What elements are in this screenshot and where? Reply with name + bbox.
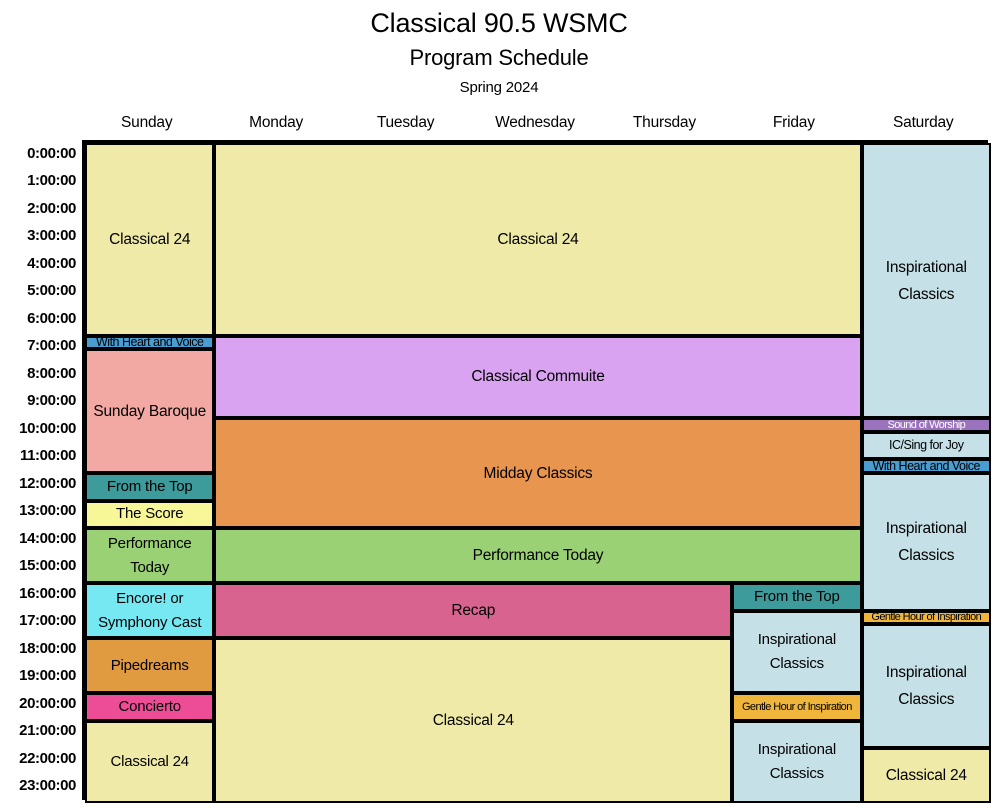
time-label: 6:00:00: [0, 311, 76, 327]
program-block[interactable]: Sound of Worship: [862, 418, 991, 432]
program-label: IC/Sing for Joy: [866, 438, 987, 453]
time-label: 2:00:00: [0, 201, 76, 217]
program-label: Inspirational Classics: [866, 254, 987, 308]
time-label: 23:00:00: [0, 778, 76, 794]
time-label: 9:00:00: [0, 393, 76, 409]
program-block[interactable]: Classical 24: [862, 748, 991, 803]
program-label: Inspirational Classics: [736, 628, 857, 676]
time-label: 22:00:00: [0, 751, 76, 767]
program-label: Classical 24: [218, 226, 857, 253]
program-label: Gentle Hour of Inspiration: [866, 611, 987, 625]
time-label: 19:00:00: [0, 668, 76, 684]
program-block[interactable]: Inspirational Classics: [862, 624, 991, 748]
program-block[interactable]: Classical 24: [85, 143, 214, 336]
time-label: 0:00:00: [0, 146, 76, 162]
time-axis: 0:00:001:00:002:00:003:00:004:00:005:00:…: [0, 140, 78, 800]
time-label: 16:00:00: [0, 586, 76, 602]
program-block[interactable]: Encore! or Symphony Cast: [85, 583, 214, 638]
program-label: With Heart and Voice: [89, 336, 210, 350]
program-label: Midday Classics: [218, 460, 857, 487]
time-label: 18:00:00: [0, 641, 76, 657]
time-label: 17:00:00: [0, 613, 76, 629]
page-title: Classical 90.5 WSMC: [0, 0, 998, 38]
program-block[interactable]: Concierto: [85, 693, 214, 721]
title-block: Classical 90.5 WSMC Program Schedule Spr…: [0, 0, 998, 97]
program-label: Inspirational Classics: [866, 659, 987, 713]
time-label: 8:00:00: [0, 366, 76, 382]
program-block[interactable]: Recap: [214, 583, 732, 638]
day-header-wednesday: Wednesday: [470, 112, 599, 138]
time-label: 21:00:00: [0, 723, 76, 739]
program-block[interactable]: Inspirational Classics: [862, 143, 991, 418]
program-label: Gentle Hour of Inspiration: [736, 700, 857, 714]
program-schedule-page: Classical 90.5 WSMC Program Schedule Spr…: [0, 0, 998, 808]
program-block[interactable]: IC/Sing for Joy: [862, 432, 991, 460]
time-label: 1:00:00: [0, 173, 76, 189]
day-header-friday: Friday: [729, 112, 858, 138]
program-block[interactable]: Classical 24: [214, 143, 861, 336]
program-label: The Score: [89, 502, 210, 526]
program-label: Classical 24: [89, 226, 210, 253]
program-block[interactable]: Classical 24: [214, 638, 732, 803]
program-label: Concierto: [89, 695, 210, 719]
program-label: From the Top: [736, 585, 857, 609]
program-block[interactable]: Inspirational Classics: [862, 473, 991, 611]
program-block[interactable]: With Heart and Voice: [85, 336, 214, 350]
time-label: 7:00:00: [0, 338, 76, 354]
time-label: 12:00:00: [0, 476, 76, 492]
program-block[interactable]: The Score: [85, 501, 214, 529]
program-label: Pipedreams: [89, 654, 210, 678]
time-label: 13:00:00: [0, 503, 76, 519]
program-label: Classical 24: [866, 762, 987, 789]
program-block[interactable]: Gentle Hour of Inspiration: [862, 611, 991, 625]
program-block[interactable]: Pipedreams: [85, 638, 214, 693]
day-header-row: SundayMondayTuesdayWednesdayThursdayFrid…: [82, 112, 988, 138]
program-block[interactable]: Sunday Baroque: [85, 349, 214, 473]
program-label: Performance Today: [218, 542, 857, 569]
day-header-monday: Monday: [211, 112, 340, 138]
time-label: 14:00:00: [0, 531, 76, 547]
time-label: 15:00:00: [0, 558, 76, 574]
day-header-tuesday: Tuesday: [341, 112, 470, 138]
program-block[interactable]: Performance Today: [214, 528, 861, 583]
program-block[interactable]: From the Top: [85, 473, 214, 501]
program-block[interactable]: Inspirational Classics: [732, 721, 861, 804]
program-label: Recap: [218, 597, 728, 624]
program-block[interactable]: Classical 24: [85, 721, 214, 804]
program-block[interactable]: From the Top: [732, 583, 861, 611]
time-label: 4:00:00: [0, 256, 76, 272]
schedule-grid: Classical 24With Heart and VoiceSunday B…: [82, 140, 988, 800]
program-label: Classical 24: [89, 750, 210, 774]
season-label: Spring 2024: [0, 71, 998, 97]
day-header-sunday: Sunday: [82, 112, 211, 138]
program-block[interactable]: Inspirational Classics: [732, 611, 861, 694]
program-label: Sunday Baroque: [89, 398, 210, 425]
program-label: Inspirational Classics: [866, 515, 987, 569]
page-subtitle: Program Schedule: [0, 38, 998, 71]
program-label: Sound of Worship: [866, 418, 987, 432]
program-label: Classical Commuite: [218, 363, 857, 390]
program-block[interactable]: Performance Today: [85, 528, 214, 583]
day-header-thursday: Thursday: [600, 112, 729, 138]
program-block[interactable]: With Heart and Voice: [862, 459, 991, 473]
program-label: Encore! or Symphony Cast: [89, 587, 210, 635]
program-block[interactable]: Classical Commuite: [214, 336, 861, 419]
program-block[interactable]: Midday Classics: [214, 418, 861, 528]
time-label: 3:00:00: [0, 228, 76, 244]
time-label: 20:00:00: [0, 696, 76, 712]
program-block[interactable]: Gentle Hour of Inspiration: [732, 693, 861, 721]
time-label: 5:00:00: [0, 283, 76, 299]
program-label: From the Top: [89, 475, 210, 499]
program-label: Performance Today: [89, 532, 210, 580]
program-label: Inspirational Classics: [736, 738, 857, 786]
day-header-saturday: Saturday: [859, 112, 988, 138]
time-label: 10:00:00: [0, 421, 76, 437]
program-label: Classical 24: [218, 707, 728, 734]
time-label: 11:00:00: [0, 448, 76, 464]
program-label: With Heart and Voice: [866, 459, 987, 473]
